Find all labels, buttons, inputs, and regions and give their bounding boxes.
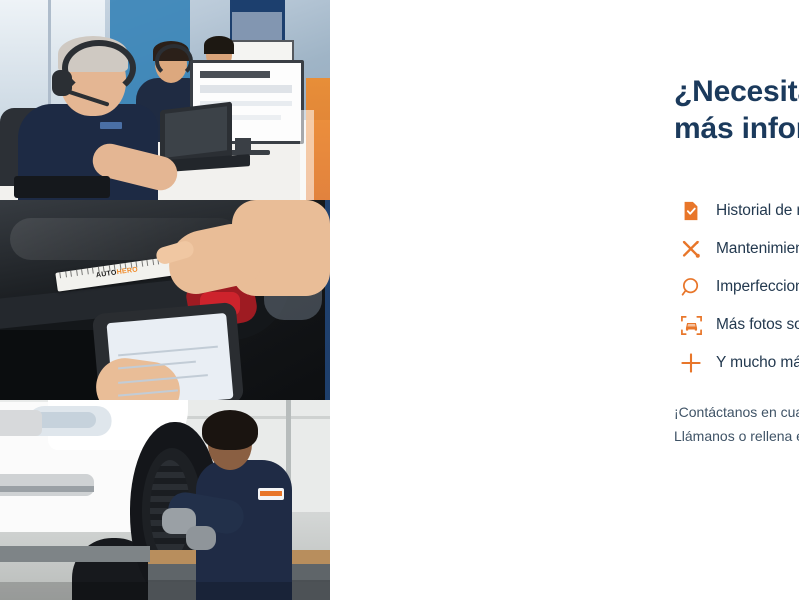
ruler-tick [114,265,116,271]
feature-label: Imperfecciones [716,278,799,296]
background-white-panel [300,110,314,200]
autohero-ruler-logo: AUTOHERO [96,266,139,279]
contact-text: ¡Contáctanos en cualquier momento para m… [674,400,799,448]
mechanic-wheel-photo [0,400,330,600]
ruler-tick [76,270,78,276]
monitor-screen-bar [200,71,270,78]
agent-headset-band [62,40,136,96]
ruler-tick [136,261,138,267]
ruler-tick [108,265,110,271]
feature-item-maintenance-history: Historial de mantenimientos [674,192,799,230]
ruler-tick [152,259,154,265]
ruler-tick [59,272,61,278]
ruler-tick [103,266,105,272]
car-headlight-lens [34,412,96,428]
information-banner: AUTOHERO [0,0,799,600]
content-panel: ¿Necesitas más información? Estamos enca… [330,0,799,600]
ruler-tick [125,263,127,269]
car-inspection-photo: AUTOHERO [0,200,330,400]
car-upper-grille [0,410,42,436]
ruler-tick [146,260,148,266]
mechanic-hair [202,410,258,450]
ruler-tick [81,269,83,275]
call-center-agent-photo [0,0,330,200]
ruler-tick [70,271,72,277]
wall-trim-line [180,416,330,419]
colleague-two-hair [204,36,234,54]
tools-cross-icon [674,232,708,266]
photo-collage: AUTOHERO [0,0,330,600]
colleague-one-headset [155,44,193,78]
mechanic-glove-right [186,526,216,550]
car-scan-icon [674,308,708,342]
monitor-screen-row [200,85,292,93]
feature-item-maintenance-done: Mantenimiento realizado [674,230,799,268]
car-lower-grille [0,474,94,496]
floor-shadow [0,582,330,600]
feature-label: Historial de mantenimientos [716,202,799,220]
ruler-tick [130,262,132,268]
car-lift-arm [0,546,150,562]
plus-icon [674,346,708,380]
feature-item-much-more: Y mucho más [674,344,799,382]
ruler-tick [86,268,88,274]
feature-list: Historial de mantenimientos Mantenimient… [674,192,799,382]
contact-line-2: Llámanos o rellena el formulario de cont… [674,424,799,448]
ruler-tick [65,271,67,277]
mechanic-uniform-logo [258,488,284,500]
page-title: ¿Necesitas más información? [674,74,799,147]
document-check-icon [674,194,708,228]
magnifier-icon [674,270,708,304]
feature-item-more-photos: Más fotos sobre el coche [674,306,799,344]
feature-label: Mantenimiento realizado [716,240,799,258]
feature-label: Más fotos sobre el coche [716,316,799,334]
ruler-tick [141,261,143,267]
feature-label: Y mucho más [716,354,799,372]
page-title-line-2: más información? [674,111,799,148]
page-title-line-1: ¿Necesitas [674,75,799,108]
contact-line-1: ¡Contáctanos en cualquier momento para m… [674,400,799,424]
ruler-tick [119,264,121,270]
desk-tablet [14,176,110,198]
agent-uniform-logo [100,122,122,129]
feature-item-imperfections: Imperfecciones [674,268,799,306]
ruler-tick [97,267,99,273]
laptop-screen [165,106,227,158]
car-chrome-trim [0,486,94,492]
ruler-tick [92,268,94,274]
